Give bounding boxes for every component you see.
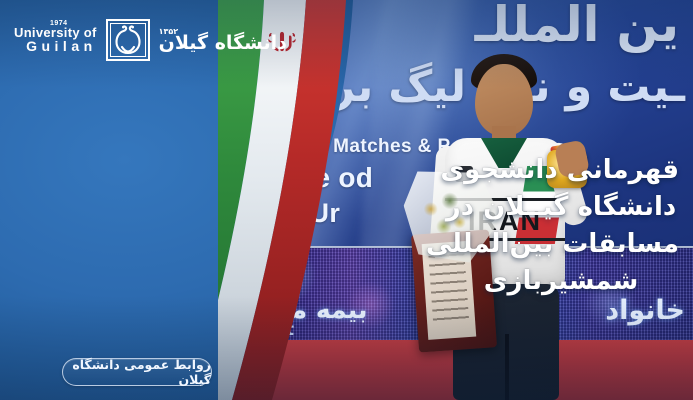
logo-persian-name: دانشگاه گیلان [159, 32, 287, 54]
backdrop-english-line-2: Sabre od [251, 162, 373, 194]
public-relations-pill[interactable]: روابط عمومی دانشگاه گیلان [62, 358, 212, 386]
sponsor-name-persian: بیمه ملت [255, 295, 367, 324]
logo-persian-text: ۱۳۵۲ دانشگاه گیلان [159, 28, 287, 53]
headline-line-1: قهرمانی دانشجوی [443, 152, 679, 189]
logo-english-line-1: University of [14, 26, 97, 40]
backdrop-english-line-3: Iran/Ur [251, 198, 340, 229]
university-logo[interactable]: 1974 University of Guilan ۱۳۵۲ دانشگاه گ… [14, 17, 287, 63]
sponsor-name-persian-right: خانواد [605, 295, 685, 326]
logo-english-text: 1974 University of Guilan [14, 26, 97, 54]
sponsor-name-english: elat [257, 320, 294, 340]
public-relations-label: روابط عمومی دانشگاه گیلان [63, 357, 211, 387]
guilan-crane-emblem-icon [104, 17, 152, 63]
logo-year-latin: 1974 [50, 20, 68, 27]
headline-line-4: شمشیربازی [443, 263, 679, 300]
athlete-leg-split [505, 334, 509, 400]
headline: قهرمانی دانشجوی دانشگاه گیــلان در مسابق… [443, 152, 679, 300]
news-banner: ین‌ المللـ ـیت و نال لیگ برتر Satellite … [0, 0, 693, 400]
headline-line-3: مسابقات بین‌المللی [443, 226, 679, 263]
logo-english-line-2: Guilan [14, 39, 97, 54]
headline-line-2: دانشگاه گیــلان در [443, 189, 679, 226]
